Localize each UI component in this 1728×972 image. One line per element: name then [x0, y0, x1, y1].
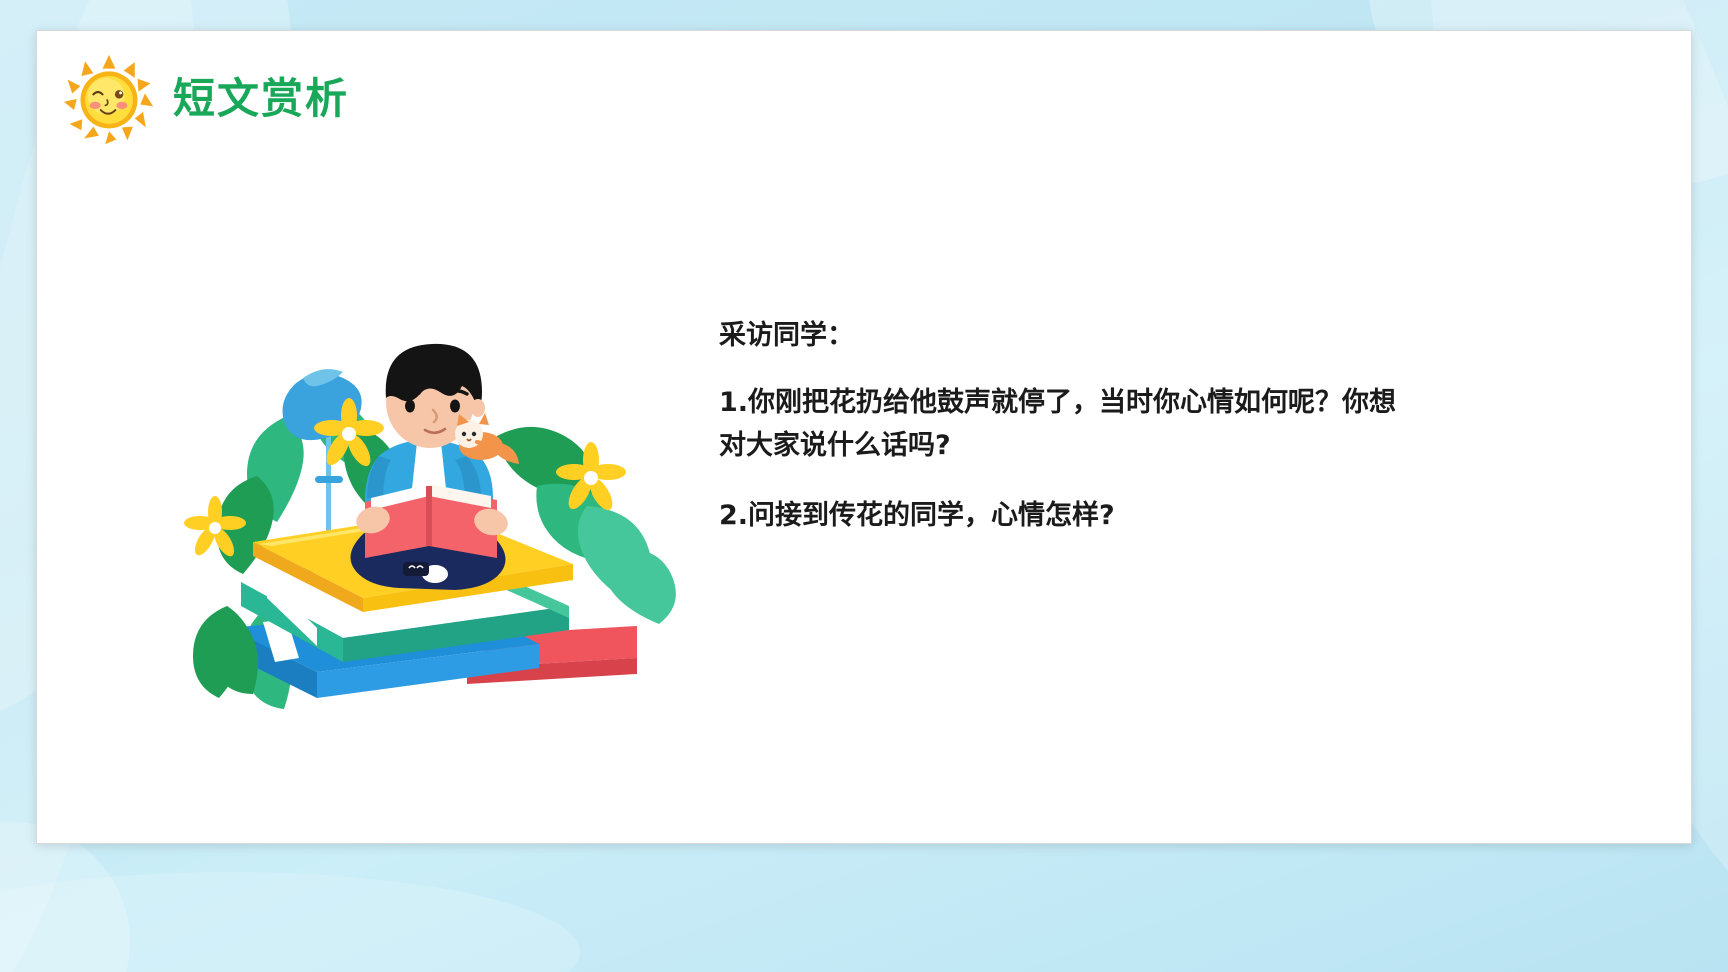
slide-header: 短文赏析: [63, 53, 349, 145]
boy-reading-on-books-illustration: [167, 306, 687, 726]
content-item-2: 2.问接到传花的同学，心情怎样?: [719, 494, 1419, 538]
content-item-1: 1.你刚把花扔给他鼓声就停了，当时你心情如何呢？你想对大家说什么话吗?: [719, 381, 1419, 468]
slide-card: 短文赏析: [36, 30, 1692, 844]
content-text-block: 采访同学： 1.你刚把花扔给他鼓声就停了，当时你心情如何呢？你想对大家说什么话吗…: [719, 319, 1419, 564]
background-swoosh-bottom-left: [0, 822, 130, 972]
slide-root: 短文赏析: [0, 0, 1728, 972]
sun-smiling-icon: [63, 53, 155, 145]
content-lead: 采访同学：: [719, 319, 1419, 353]
background-swoosh-bottom: [0, 872, 580, 972]
page-title: 短文赏析: [173, 78, 349, 120]
